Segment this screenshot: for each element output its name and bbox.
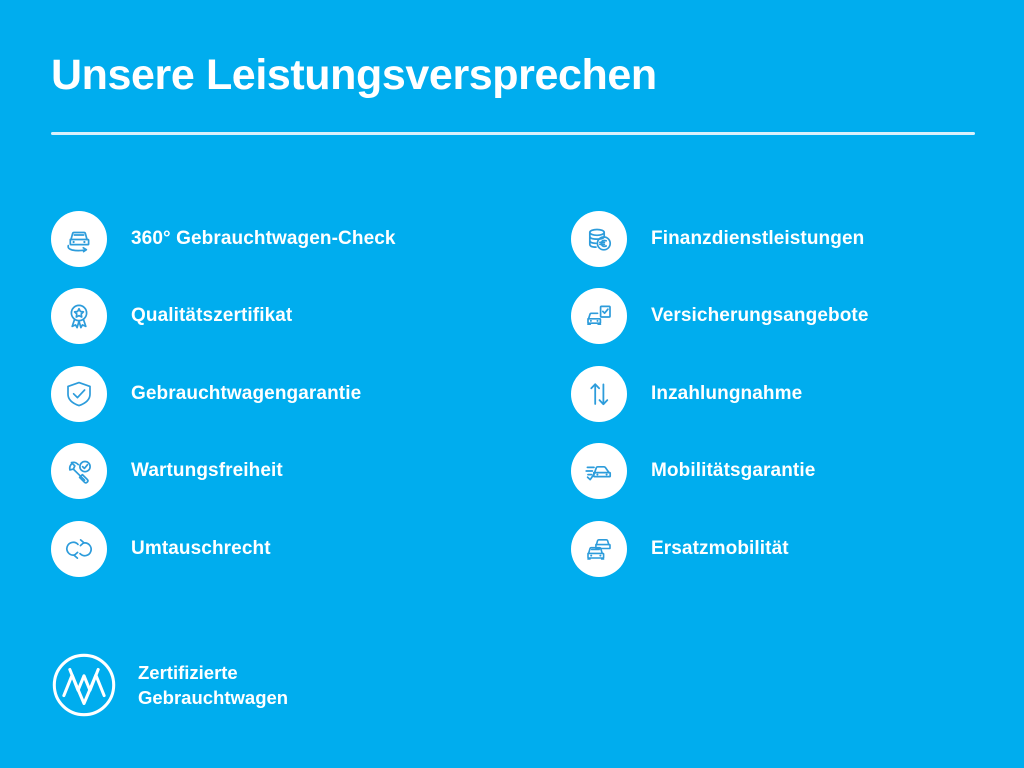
car-motion-icon <box>571 443 627 499</box>
award-rosette-icon <box>51 288 107 344</box>
header: Unsere Leistungsversprechen <box>51 48 975 135</box>
feature-label: Qualitätszertifikat <box>131 305 292 327</box>
feature-item-financial-services[interactable]: Finanzdienstleistungen <box>571 200 975 278</box>
page-title: Unsere Leistungsversprechen <box>51 48 975 102</box>
two-cars-icon <box>571 521 627 577</box>
feature-label: Wartungsfreiheit <box>131 460 283 482</box>
feature-label: Versicherungsangebote <box>651 305 869 327</box>
wrench-check-icon <box>51 443 107 499</box>
feature-label: Mobilitätsgarantie <box>651 460 815 482</box>
feature-label: 360° Gebrauchtwagen-Check <box>131 228 396 250</box>
feature-item-360-check[interactable]: 360° Gebrauchtwagen-Check <box>51 200 571 278</box>
brand-text: Zertifizierte Gebrauchtwagen <box>138 660 288 710</box>
feature-item-maintenance-free[interactable]: Wartungsfreiheit <box>51 433 571 511</box>
feature-label: Umtauschrecht <box>131 538 271 560</box>
car-document-check-icon <box>571 288 627 344</box>
promise-slide: Unsere Leistungsversprechen <box>0 0 1024 768</box>
feature-column-left: 360° Gebrauchtwagen-Check Qualitätszerti… <box>51 200 571 588</box>
feature-item-warranty[interactable]: Gebrauchtwagengarantie <box>51 355 571 433</box>
feature-column-right: Finanzdienstleistungen Versicheru <box>571 200 975 588</box>
exchange-arrows-icon <box>51 521 107 577</box>
features-grid: 360° Gebrauchtwagen-Check Qualitätszerti… <box>51 200 975 588</box>
feature-item-exchange-right[interactable]: Umtauschrecht <box>51 510 571 588</box>
feature-item-trade-in[interactable]: Inzahlungnahme <box>571 355 975 433</box>
shield-check-icon <box>51 366 107 422</box>
feature-label: Inzahlungnahme <box>651 383 802 405</box>
brand-lockup: Zertifizierte Gebrauchtwagen <box>51 652 288 718</box>
feature-item-insurance-offers[interactable]: Versicherungsangebote <box>571 278 975 356</box>
feature-label: Finanzdienstleistungen <box>651 228 864 250</box>
feature-item-quality-certificate[interactable]: Qualitätszertifikat <box>51 278 571 356</box>
feature-item-mobility-guarantee[interactable]: Mobilitätsgarantie <box>571 433 975 511</box>
arrows-up-down-icon <box>571 366 627 422</box>
volkswagen-logo <box>51 652 117 718</box>
feature-label: Gebrauchtwagengarantie <box>131 383 361 405</box>
brand-text-line1: Zertifizierte <box>138 660 288 685</box>
title-divider <box>51 132 975 135</box>
feature-item-replacement-mobility[interactable]: Ersatzmobilität <box>571 510 975 588</box>
car-360-check-icon <box>51 211 107 267</box>
brand-text-line2: Gebrauchtwagen <box>138 685 288 710</box>
coins-euro-icon <box>571 211 627 267</box>
feature-label: Ersatzmobilität <box>651 538 789 560</box>
